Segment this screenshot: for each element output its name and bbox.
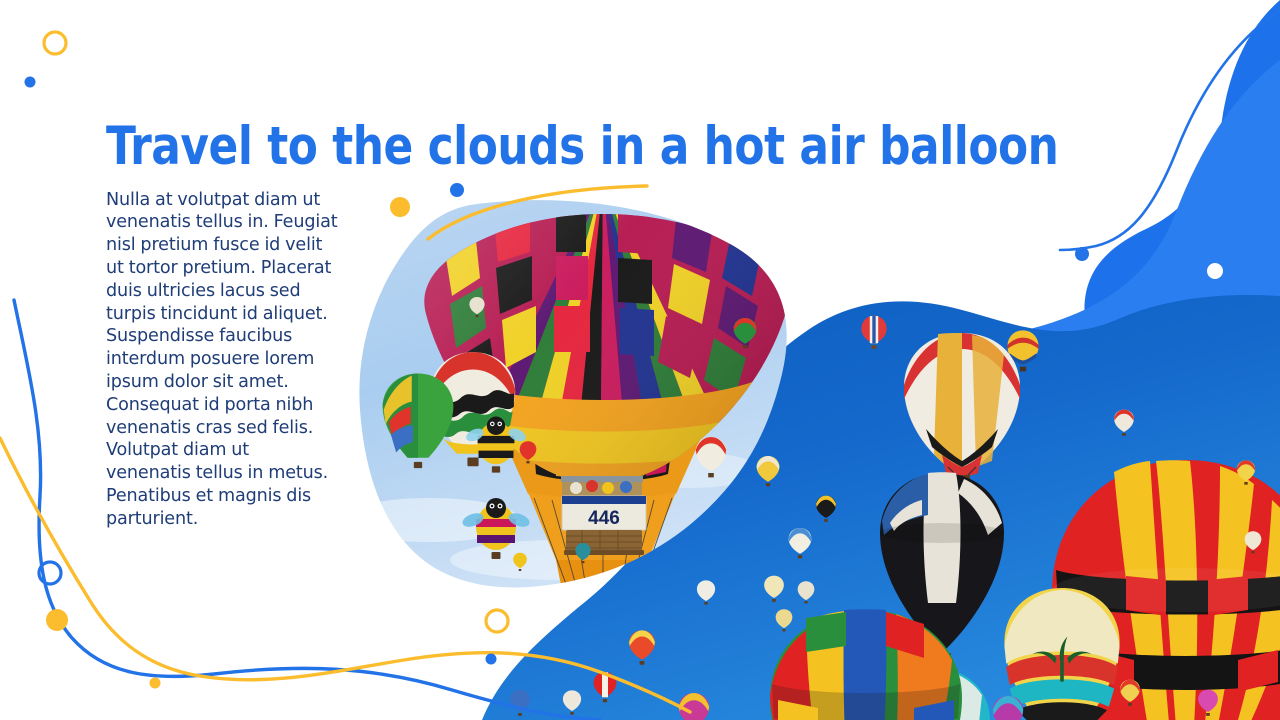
slide-canvas: 446 — [0, 0, 1280, 720]
body-paragraph: Nulla at volutpat diam ut venenatis tell… — [106, 189, 338, 531]
page-title: Travel to the clouds in a hot air balloo… — [106, 116, 989, 178]
text-layer: Travel to the clouds in a hot air balloo… — [0, 0, 1280, 720]
